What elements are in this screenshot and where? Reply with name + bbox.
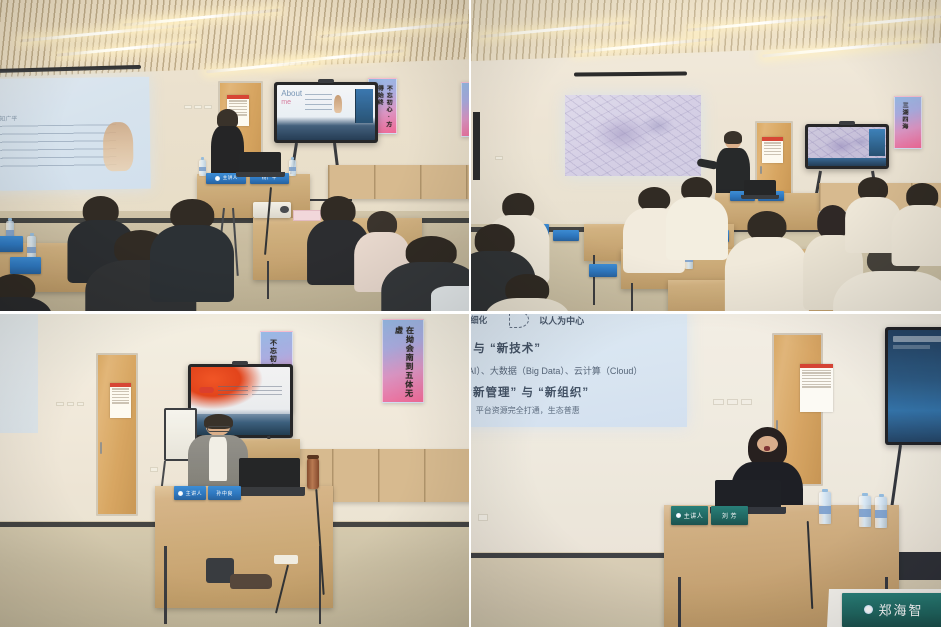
- nameplate-emblem-icon: [676, 513, 681, 518]
- audience-member: [894, 183, 941, 258]
- projector-device[interactable]: [253, 202, 291, 218]
- projected-slide-subheading: 知广平: [0, 113, 18, 122]
- thermos-flask[interactable]: [307, 458, 319, 489]
- speaker-nameplate: 主讲人: [174, 486, 207, 500]
- desk-leg: [593, 255, 595, 305]
- wall-banner: 三湖四海: [894, 96, 922, 149]
- wall-switch[interactable]: [56, 402, 64, 407]
- foreground-nameplate-name: 郑海智: [878, 600, 923, 619]
- delegate-nameplate: [589, 264, 617, 276]
- delegate-nameplate: [0, 236, 23, 252]
- interactive-display[interactable]: About me: [274, 82, 377, 143]
- audience-member: [668, 177, 724, 252]
- display-slide-body: [252, 386, 282, 397]
- eyeglasses-icon: [207, 426, 231, 432]
- collage-horizontal-seam: [0, 311, 941, 314]
- slide-line3: 能（AI）、大数据（Big Data）、云计算（Cloud）: [471, 364, 642, 377]
- wall-switch[interactable]: [184, 105, 192, 109]
- presenter-hair: [724, 131, 742, 144]
- door-notice-poster: [110, 383, 131, 418]
- desk-leg: [267, 261, 269, 298]
- banner-calligraphy: 在拗会南到五体无虚: [392, 326, 415, 402]
- wall-switch[interactable]: [194, 105, 202, 109]
- display-camera-icon: [232, 361, 248, 365]
- water-bottle[interactable]: [289, 160, 296, 176]
- delegate-nameplate: [10, 257, 40, 274]
- door-frame-edge: [473, 112, 480, 180]
- banner-calligraphy: 三湖四海: [900, 102, 909, 130]
- door-handle[interactable]: [760, 166, 762, 174]
- projected-slide: out 知广平: [0, 76, 151, 191]
- presenter-laptop[interactable]: [239, 152, 281, 177]
- speaker-shoe: [230, 574, 272, 590]
- photo-collage: out 知广平 不忘初心 · 方得始终 三湖四海皆兄弟也: [0, 0, 941, 627]
- display-slide-body: [305, 94, 332, 113]
- wall-switch[interactable]: [478, 514, 488, 521]
- display-slide-title-bar: [893, 336, 941, 342]
- wall-banner: 三湖四海皆兄弟也: [461, 82, 469, 136]
- display-screen: [888, 330, 941, 443]
- display-slide-portrait: [334, 95, 343, 112]
- nameplate-emblem-icon: [215, 176, 220, 181]
- display-sidebar-thumbnails[interactable]: [869, 129, 885, 156]
- nameplate-emblem-icon: [864, 605, 873, 614]
- wall-switch[interactable]: [727, 399, 738, 406]
- display-camera-icon: [839, 121, 855, 125]
- speaker-nameplate-name: 孙中良: [208, 486, 241, 500]
- collage-panel-bottom-right: 精细化 以人为中心 素” 与 “新技术” 能（AI）、大数据（Big Data）…: [471, 314, 941, 627]
- interactive-display[interactable]: [885, 327, 941, 446]
- display-slide-body: [218, 386, 248, 397]
- display-slide-subtitle-bar: [893, 345, 930, 348]
- presenter-laptop[interactable]: [744, 180, 777, 199]
- slide-line1-right: 以人为中心: [539, 314, 584, 327]
- collage-panel-top-left: out 知广平 不忘初心 · 方得始终 三湖四海皆兄弟也: [0, 0, 469, 311]
- speaker-nameplate-name: 刘 芳: [711, 506, 749, 525]
- projected-light-edge: [0, 314, 38, 433]
- arrow-icon: [509, 314, 530, 328]
- desk-leg: [164, 546, 167, 624]
- collage-panel-bottom-left: 不忘初心 · 方得始终 在拗会南到五体无虚: [0, 314, 469, 627]
- audience-member-collar: [431, 286, 469, 311]
- projected-slide-portrait: [103, 121, 134, 171]
- room-door[interactable]: [96, 353, 138, 516]
- display-footer-bar: [808, 158, 887, 167]
- speaker-laptop[interactable]: [239, 458, 300, 496]
- wall-switch[interactable]: [495, 156, 503, 160]
- projected-slide: 精细化 以人为中心 素” 与 “新技术” 能（AI）、大数据（Big Data）…: [471, 314, 687, 427]
- desk-leg: [631, 283, 633, 311]
- slide-line2: 素” 与 “新技术”: [471, 340, 541, 356]
- wall-cabinets[interactable]: [328, 165, 469, 199]
- speaker-nameplate: 主讲人: [671, 506, 709, 525]
- power-strip[interactable]: [274, 555, 297, 564]
- interactive-display[interactable]: [805, 124, 890, 169]
- slide-line1-left: 精细化: [471, 314, 487, 326]
- slide-line5: 平台资源完全打通，生态普惠: [476, 405, 580, 416]
- water-bottle[interactable]: [819, 492, 831, 523]
- display-slide-title: About: [281, 89, 302, 98]
- wall-banner: 在拗会南到五体无虚: [382, 319, 424, 404]
- display-slide-subtitle: me: [281, 99, 291, 106]
- nameplate-role: 主讲人: [684, 511, 704, 520]
- desk-leg: [678, 577, 681, 627]
- collage-panel-top-right: 三湖四海: [471, 0, 941, 311]
- water-bottle[interactable]: [875, 497, 887, 528]
- speaker-shirt: [209, 437, 227, 481]
- slide-line4: “新管理” 与 “新组织”: [471, 384, 589, 400]
- projected-slide-body-lines: [0, 124, 117, 173]
- water-bottle[interactable]: [199, 160, 206, 176]
- nameplate-name: 刘 芳: [722, 511, 737, 520]
- delegate-nameplate: [553, 230, 579, 241]
- display-camera-icon: [318, 79, 334, 83]
- wall-switch[interactable]: [741, 399, 752, 406]
- door-handle[interactable]: [100, 442, 102, 453]
- projected-aerial-map: [565, 95, 701, 176]
- audience-member: [490, 274, 565, 311]
- audience-member: [155, 199, 230, 292]
- nameplate-role: 主讲人: [186, 490, 203, 497]
- wall-switch[interactable]: [204, 105, 212, 109]
- display-screen: [808, 127, 887, 166]
- wall-switch[interactable]: [67, 402, 75, 407]
- water-bottle[interactable]: [859, 496, 871, 527]
- display-screen: About me: [277, 85, 374, 140]
- projected-slide: [565, 95, 701, 176]
- nameplate-emblem-icon: [178, 491, 183, 496]
- nameplate-name: 孙中良: [216, 490, 233, 497]
- audience-member: [0, 274, 47, 311]
- lectern-desk: [155, 486, 333, 608]
- display-sidebar-thumbnails[interactable]: [355, 89, 373, 123]
- door-notice-poster: [762, 137, 783, 163]
- door-notice-poster: [800, 364, 833, 412]
- wall-switch[interactable]: [713, 399, 724, 406]
- foreground-nameplate: 郑海智: [842, 593, 941, 627]
- wall-switch[interactable]: [77, 402, 85, 407]
- audience-member: [730, 211, 805, 311]
- wall-switch[interactable]: [150, 467, 158, 472]
- display-slide-badge: [199, 387, 215, 393]
- projector-screen-housing: [574, 71, 687, 76]
